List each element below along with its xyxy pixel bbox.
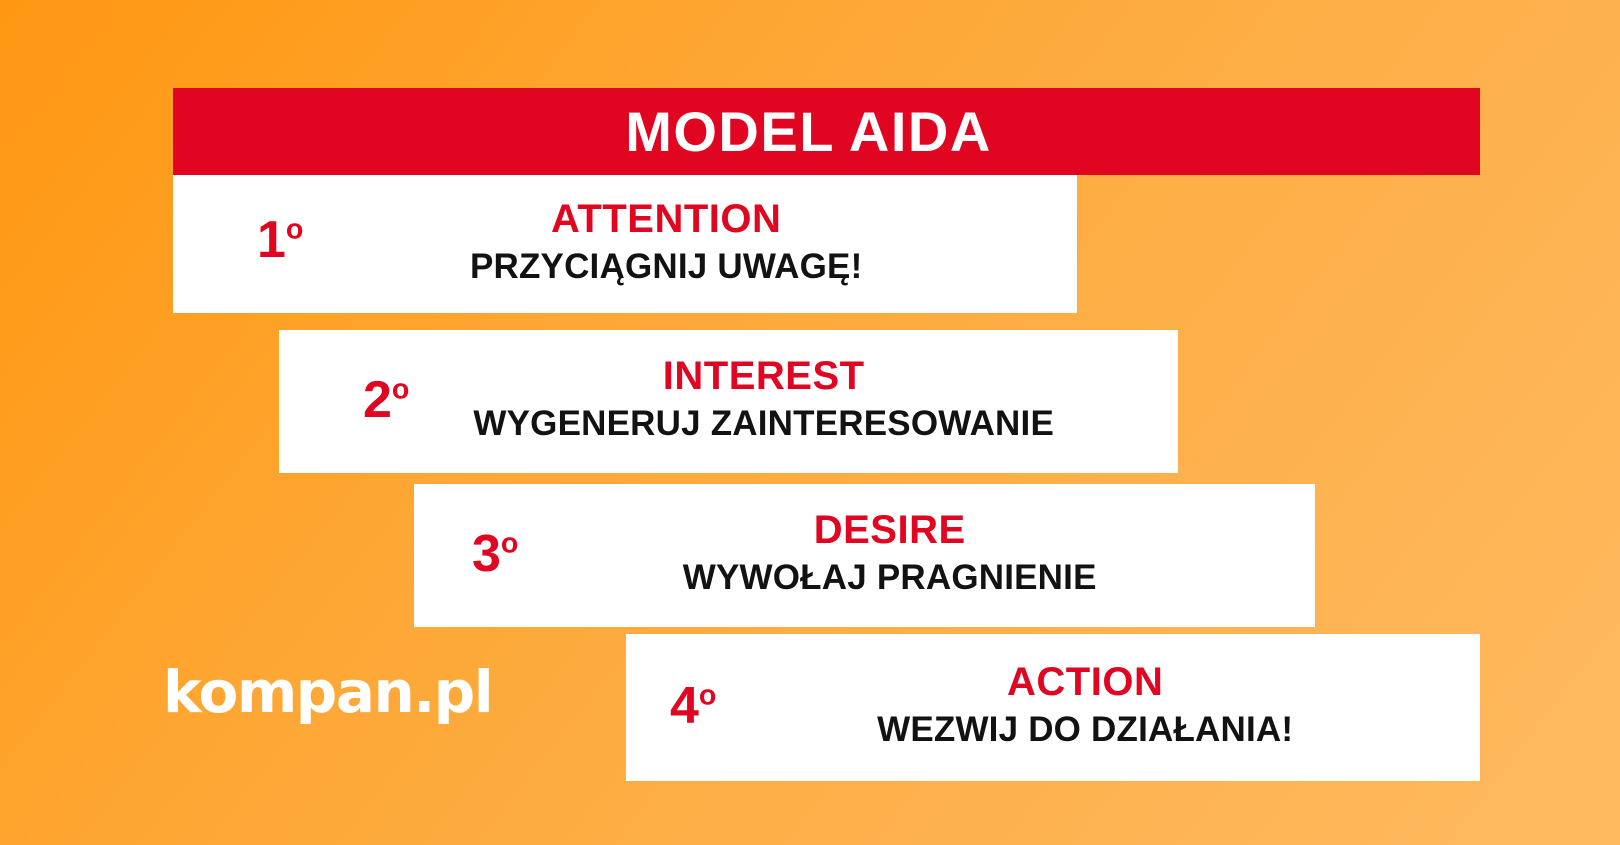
step-text-2: INTEREST WYGENERUJ ZAINTERESOWANIE xyxy=(373,355,1154,444)
step-text-4: ACTION WEZWIJ DO DZIAŁANIA! xyxy=(702,661,1468,750)
step-title-3: DESIRE xyxy=(814,509,966,551)
step-text-3: DESIRE WYWOŁAJ PRAGNIENIE xyxy=(492,509,1287,598)
step-band-1: 1o ATTENTION PRZYCIĄGNIJ UWAGĘ! xyxy=(173,175,1077,313)
step-band-2: 2o INTEREST WYGENERUJ ZAINTERESOWANIE xyxy=(279,330,1178,473)
brand-logo-text: kompan.pl xyxy=(163,663,492,721)
page-title: MODEL AIDA xyxy=(625,104,992,160)
step-title-4: ACTION xyxy=(1007,661,1163,703)
brand-logo: kompan.pl xyxy=(163,652,523,732)
step-number-4-value: 4 xyxy=(670,677,699,735)
step-subtitle-3: WYWOŁAJ PRAGNIENIE xyxy=(683,559,1097,598)
infographic-canvas: MODEL AIDA 1o ATTENTION PRZYCIĄGNIJ UWAG… xyxy=(0,0,1620,845)
step-subtitle-2: WYGENERUJ ZAINTERESOWANIE xyxy=(473,405,1054,444)
step-band-3: 3o DESIRE WYWOŁAJ PRAGNIENIE xyxy=(414,484,1315,627)
step-title-1: ATTENTION xyxy=(551,198,781,240)
step-band-4: 4o ACTION WEZWIJ DO DZIAŁANIA! xyxy=(626,634,1480,781)
step-title-2: INTEREST xyxy=(663,355,865,397)
step-subtitle-4: WEZWIJ DO DZIAŁANIA! xyxy=(877,711,1293,750)
header-bar: MODEL AIDA xyxy=(173,88,1480,175)
step-subtitle-1: PRZYCIĄGNIJ UWAGĘ! xyxy=(470,248,863,287)
step-text-1: ATTENTION PRZYCIĄGNIJ UWAGĘ! xyxy=(275,198,1057,287)
